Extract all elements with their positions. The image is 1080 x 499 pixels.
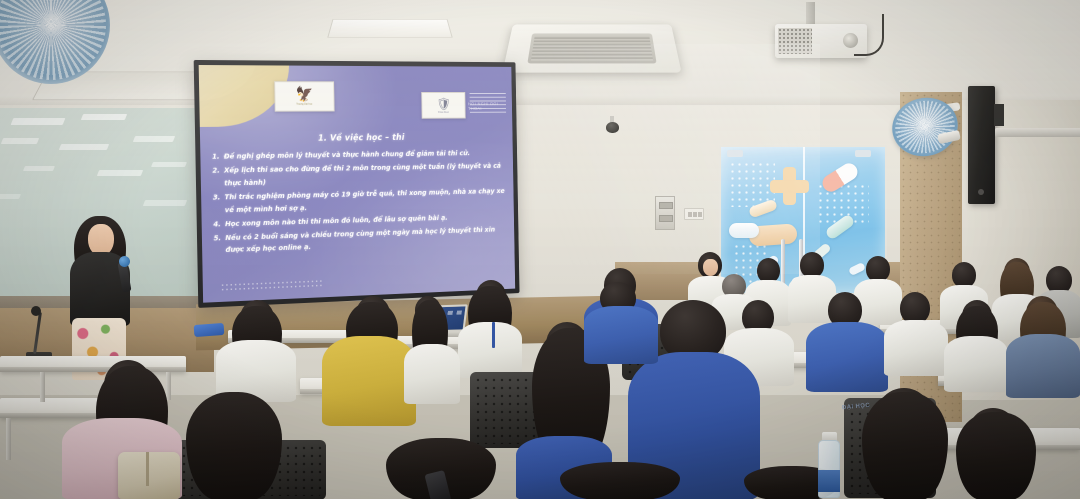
student-torso	[322, 336, 416, 426]
column-speaker	[968, 86, 995, 204]
student-hair	[862, 392, 948, 499]
dome-security-camera	[606, 122, 619, 133]
desk-leg	[6, 418, 11, 460]
handbag	[118, 452, 180, 499]
slide-footer-dots	[220, 279, 323, 293]
student-hair	[560, 462, 680, 499]
student-torso	[884, 320, 948, 376]
bottle-label	[818, 470, 840, 492]
student-torso	[584, 306, 658, 364]
bird-icon: 🦅	[296, 87, 314, 102]
student-hair	[956, 412, 1036, 499]
door-handle	[781, 239, 785, 287]
desk-leg	[166, 372, 171, 400]
tablet-device[interactable]	[194, 323, 225, 337]
curtain-rail	[995, 128, 1080, 137]
student-torso	[404, 344, 460, 404]
desk-row	[0, 356, 186, 372]
student-torso	[806, 322, 888, 392]
student-torso	[944, 336, 1008, 392]
student-torso	[854, 279, 902, 325]
projector-cable	[854, 14, 884, 56]
logo-left-caption: Truong Dai hoc	[297, 103, 313, 106]
faculty-logo-right: 🛡 Khoa Duoc	[421, 92, 465, 119]
speaker-bracket	[994, 104, 1004, 126]
recessed-ceiling-light	[327, 19, 452, 37]
lanyard	[492, 322, 495, 348]
ceiling-cassette-air-conditioner	[502, 24, 681, 72]
student-torso	[458, 322, 522, 378]
wall-control-panel[interactable]	[655, 196, 675, 230]
projector-vent	[778, 28, 812, 54]
attendee-hair	[186, 392, 282, 499]
student-torso	[1006, 334, 1080, 398]
handbag-zipper	[146, 452, 149, 486]
university-logo-left: 🦅 Truong Dai hoc	[274, 81, 334, 111]
microphone-capsule	[31, 306, 41, 316]
lecture-hall-photograph: 🦅 Truong Dai hoc 🛡 Khoa Duoc HOI NGHI DO…	[0, 0, 1080, 499]
slide-surface: 🦅 Truong Dai hoc 🛡 Khoa Duoc HOI NGHI DO…	[199, 65, 516, 303]
slide-bullet-list: 1.Đề nghị ghép môn lý thuyết và thực hàn…	[212, 147, 506, 259]
winged-emblem-icon: 🛡	[436, 97, 451, 109]
logo-right-caption: Khoa Duoc	[438, 111, 449, 114]
projection-screen: 🦅 Truong Dai hoc 🛡 Khoa Duoc HOI NGHI DO…	[194, 60, 520, 308]
speaker-led	[978, 189, 984, 195]
slide-faint-text: HOI NGHI DOI THOAI	[468, 101, 512, 110]
light-switch-panel[interactable]	[684, 208, 704, 220]
desk-leg	[40, 372, 45, 402]
slide-title: 1. Về việc học – thi	[200, 132, 513, 145]
student-face	[703, 259, 718, 276]
